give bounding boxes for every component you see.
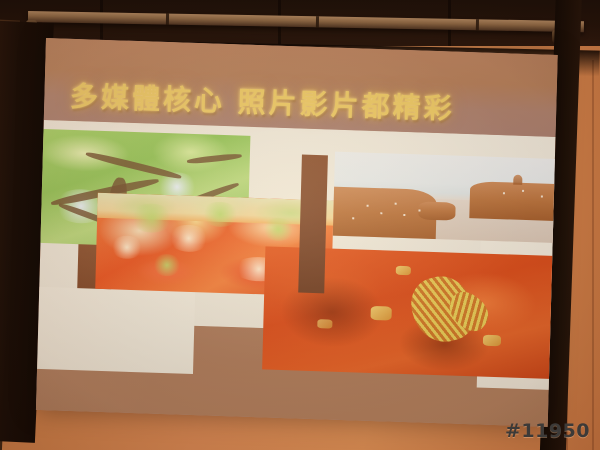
coast-headland-right (470, 181, 558, 222)
slide-accent-bar-center (298, 154, 328, 292)
presentation-slide: 多媒體核心 照片影片都精彩 (36, 38, 558, 427)
coast-rock (418, 201, 456, 221)
coast-pole (556, 171, 558, 180)
watermark-label: #11950 (505, 420, 590, 442)
slide-white-notch (37, 287, 195, 374)
coast-tree (513, 174, 523, 184)
coastal-harbor-photo (333, 152, 558, 243)
projection-screen-area: 多媒體核心 照片影片都精彩 (0, 0, 600, 450)
screenshot-root: 多媒體核心 照片影片都精彩 (0, 0, 600, 450)
projection-screen: 多媒體核心 照片影片都精彩 (36, 38, 558, 427)
